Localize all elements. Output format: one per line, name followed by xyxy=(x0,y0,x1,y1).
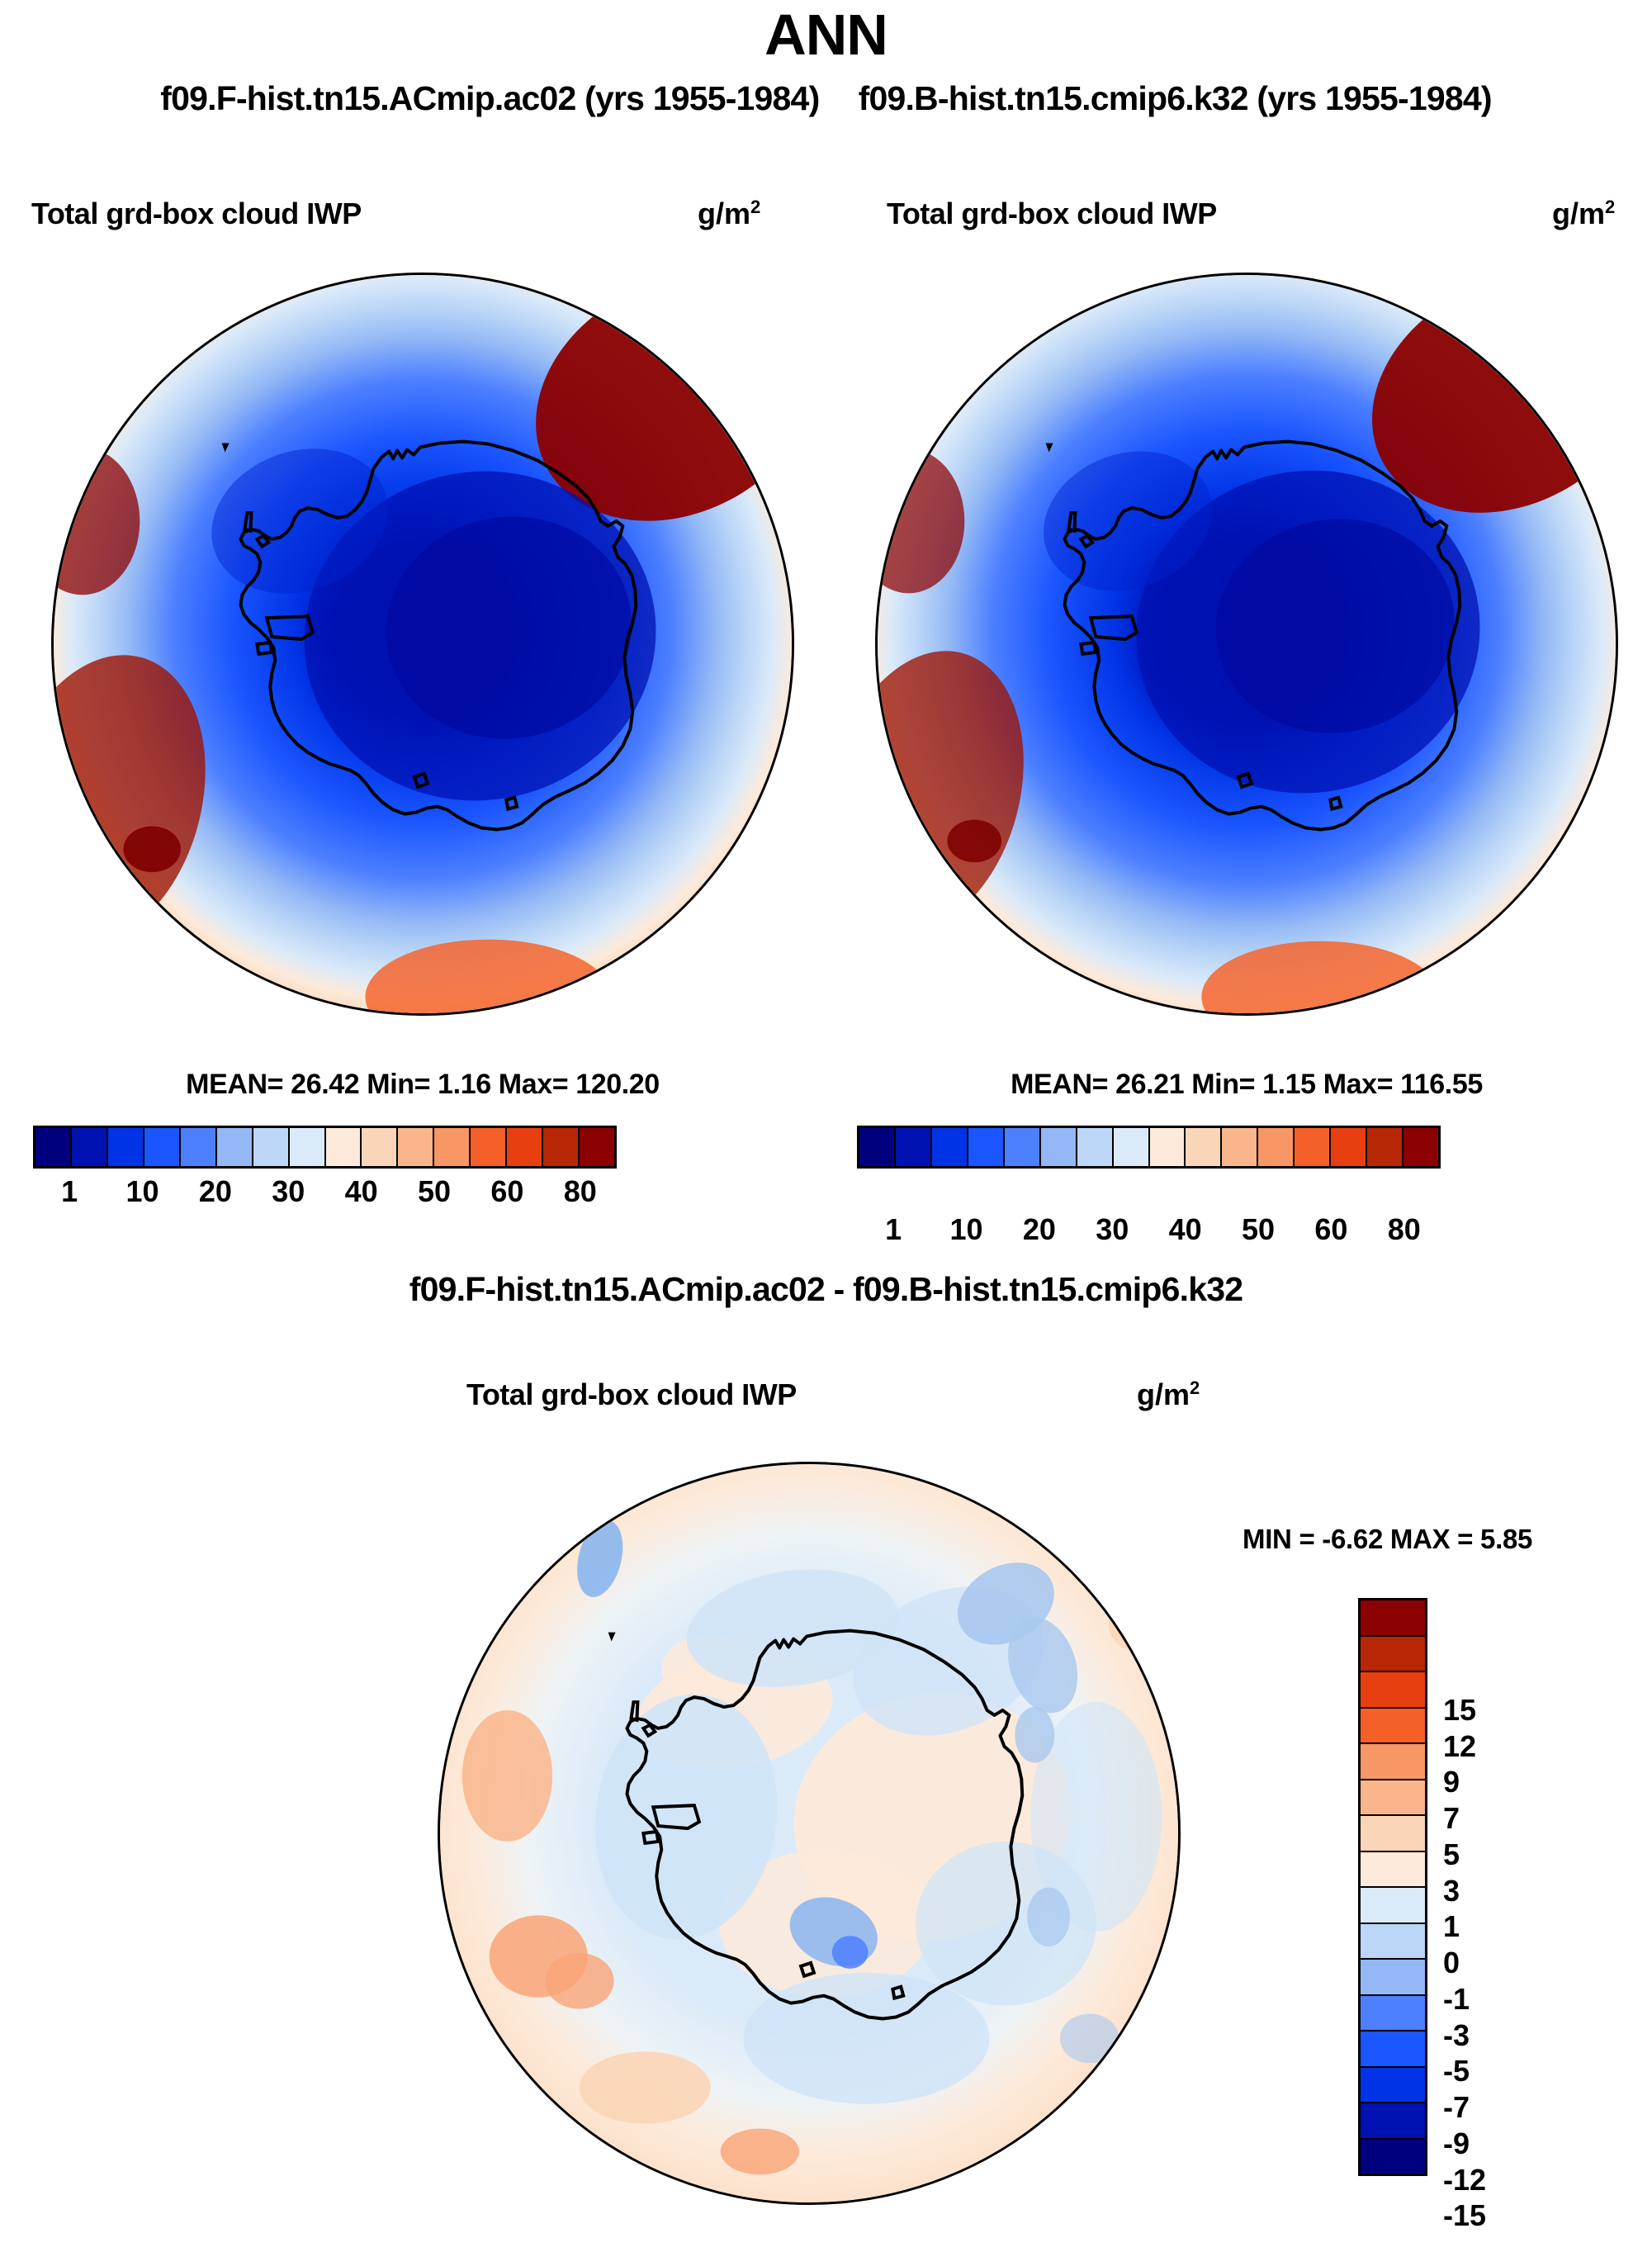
colorbar-tick-1: 1 xyxy=(885,1212,902,1247)
colorbar-tick-1: 1 xyxy=(61,1174,78,1209)
diff-colorbar-tick-0: 0 xyxy=(1443,1946,1460,1980)
diff-colorbar-tick-1: 1 xyxy=(1443,1909,1460,1944)
diff-colorbar-band-1 xyxy=(1361,1637,1425,1673)
diff-colorbar-labels: 1512975310-1-3-5-7-9-12-15 xyxy=(1443,1674,1534,2252)
diff-panel-variable-label: Total grd-box cloud IWP xyxy=(466,1377,797,1412)
colorbar-tick-30: 30 xyxy=(1096,1212,1129,1247)
colorbar-tick-20: 20 xyxy=(1023,1212,1056,1247)
colorbar-band-1 xyxy=(72,1128,108,1166)
colorbar-tick-10: 10 xyxy=(950,1212,983,1247)
colorbar-band-11 xyxy=(434,1128,471,1166)
colorbar-band-13 xyxy=(1331,1128,1367,1166)
case-subtitle-row: f09.F-hist.tn15.ACmip.ac02 (yrs 1955-198… xyxy=(0,79,1652,118)
diff-colorbar-tick-neg9: -9 xyxy=(1443,2126,1470,2161)
diff-colorbar-band-9 xyxy=(1361,1924,1425,1960)
left-panel-units: g/m2 xyxy=(698,197,760,231)
diff-colorbar-tick-3: 3 xyxy=(1443,1874,1460,1908)
colorbar-tick-50: 50 xyxy=(1242,1212,1275,1247)
colorbar-tick-60: 60 xyxy=(490,1174,523,1209)
colorbar-band-8 xyxy=(1150,1128,1186,1166)
left-map-disc xyxy=(51,273,794,1016)
colorbar-band-15 xyxy=(1403,1128,1438,1166)
colorbar-tick-30: 30 xyxy=(272,1174,305,1209)
colorbar-band-11 xyxy=(1258,1128,1295,1166)
diff-colorbar-band-10 xyxy=(1361,1960,1425,1996)
colorbar-band-8 xyxy=(326,1128,362,1166)
diff-colorbar-band-3 xyxy=(1361,1709,1425,1745)
colorbar-band-6 xyxy=(1077,1128,1114,1166)
diff-colorbar-band-8 xyxy=(1361,1888,1425,1924)
diff-colorbar-band-6 xyxy=(1361,1816,1425,1852)
colorbar-band-7 xyxy=(1114,1128,1150,1166)
diff-colorbar-band-5 xyxy=(1361,1780,1425,1817)
colorbar-band-14 xyxy=(1367,1128,1403,1166)
diff-colorbar xyxy=(1358,1598,1427,2176)
diff-colorbar-tick-9: 9 xyxy=(1443,1765,1460,1799)
left-panel-variable-label: Total grd-box cloud IWP xyxy=(31,197,362,231)
colorbar-band-0 xyxy=(859,1128,896,1166)
diff-minmax-label: MIN = -6.62 MAX = 5.85 xyxy=(1243,1524,1532,1555)
colorbar-band-0 xyxy=(36,1128,72,1166)
diff-colorbar-tick-5: 5 xyxy=(1443,1837,1460,1872)
right-case-label: f09.B-hist.tn15.cmip6.k32 (yrs 1955-1984… xyxy=(859,79,1492,117)
colorbar-band-6 xyxy=(253,1128,290,1166)
diff-map-disc xyxy=(438,1462,1181,2205)
diff-colorbar-band-2 xyxy=(1361,1672,1425,1709)
right-map-svg xyxy=(878,275,1616,1013)
diff-colorbar-tick-7: 7 xyxy=(1443,1801,1460,1836)
diff-colorbar-band-0 xyxy=(1361,1600,1425,1637)
diff-colorbar-band-11 xyxy=(1361,1996,1425,2032)
colorbar-tick-40: 40 xyxy=(1169,1212,1202,1247)
diff-colorbar-band-4 xyxy=(1361,1744,1425,1780)
colorbar-band-5 xyxy=(1041,1128,1077,1166)
colorbar-band-10 xyxy=(398,1128,434,1166)
right-panel-stats: MEAN= 26.21 Min= 1.15 Max= 116.55 xyxy=(875,1069,1618,1101)
diff-colorbar-tick-neg1: -1 xyxy=(1443,1982,1470,2017)
diff-colorbar-tick-neg5: -5 xyxy=(1443,2054,1470,2088)
colorbar-band-2 xyxy=(108,1128,144,1166)
difference-title: f09.F-hist.tn15.ACmip.ac02 - f09.B-hist.… xyxy=(0,1270,1652,1309)
diff-colorbar-band-13 xyxy=(1361,2068,1425,2104)
colorbar-band-9 xyxy=(1186,1128,1222,1166)
colorbar-band-4 xyxy=(1005,1128,1041,1166)
diff-colorbar-tick-12: 12 xyxy=(1443,1729,1476,1764)
colorbar-band-4 xyxy=(181,1128,217,1166)
right-panel-units: g/m2 xyxy=(1552,197,1615,231)
diff-colorbar-tick-neg3: -3 xyxy=(1443,2018,1470,2053)
colorbar-band-3 xyxy=(968,1128,1005,1166)
diff-colorbar-tick-neg15: -15 xyxy=(1443,2198,1486,2233)
diff-colorbar-band-7 xyxy=(1361,1852,1425,1889)
right-panel-variable-label: Total grd-box cloud IWP xyxy=(887,197,1217,231)
colorbar-band-14 xyxy=(543,1128,580,1166)
diff-map-svg xyxy=(440,1464,1178,2202)
colorbar-tick-80: 80 xyxy=(1388,1212,1421,1247)
colorbar-band-1 xyxy=(896,1128,932,1166)
diff-colorbar-tick-neg7: -7 xyxy=(1443,2090,1470,2125)
colorbar-tick-10: 10 xyxy=(126,1174,159,1209)
diff-colorbar-tick-neg12: -12 xyxy=(1443,2163,1486,2197)
diff-colorbar-band-14 xyxy=(1361,2103,1425,2140)
right-map-disc xyxy=(875,273,1618,1016)
colorbar-band-2 xyxy=(932,1128,968,1166)
left-colorbar-labels: 110203040506080 xyxy=(33,1174,617,1212)
left-map-svg xyxy=(54,275,792,1013)
colorbar-tick-40: 40 xyxy=(345,1174,378,1209)
right-colorbar-labels: 110203040506080 xyxy=(857,1212,1441,1250)
left-case-label: f09.F-hist.tn15.ACmip.ac02 (yrs 1955-198… xyxy=(160,79,819,117)
diff-colorbar-tick-15: 15 xyxy=(1443,1693,1476,1728)
diff-colorbar-band-12 xyxy=(1361,2032,1425,2068)
colorbar-tick-60: 60 xyxy=(1314,1212,1347,1247)
colorbar-tick-20: 20 xyxy=(199,1174,232,1209)
colorbar-band-15 xyxy=(580,1128,614,1166)
left-colorbar xyxy=(33,1126,617,1169)
colorbar-band-9 xyxy=(362,1128,398,1166)
colorbar-band-3 xyxy=(144,1128,181,1166)
page-title: ANN xyxy=(0,2,1652,68)
colorbar-band-7 xyxy=(290,1128,326,1166)
colorbar-band-12 xyxy=(471,1128,507,1166)
right-colorbar xyxy=(857,1126,1441,1169)
colorbar-tick-50: 50 xyxy=(418,1174,451,1209)
colorbar-band-13 xyxy=(507,1128,543,1166)
left-panel-stats: MEAN= 26.42 Min= 1.16 Max= 120.20 xyxy=(51,1069,794,1101)
colorbar-band-10 xyxy=(1222,1128,1258,1166)
colorbar-band-12 xyxy=(1295,1128,1331,1166)
diff-colorbar-band-15 xyxy=(1361,2140,1425,2174)
colorbar-tick-80: 80 xyxy=(564,1174,597,1209)
colorbar-band-5 xyxy=(217,1128,253,1166)
diff-panel-units: g/m2 xyxy=(1137,1377,1200,1412)
